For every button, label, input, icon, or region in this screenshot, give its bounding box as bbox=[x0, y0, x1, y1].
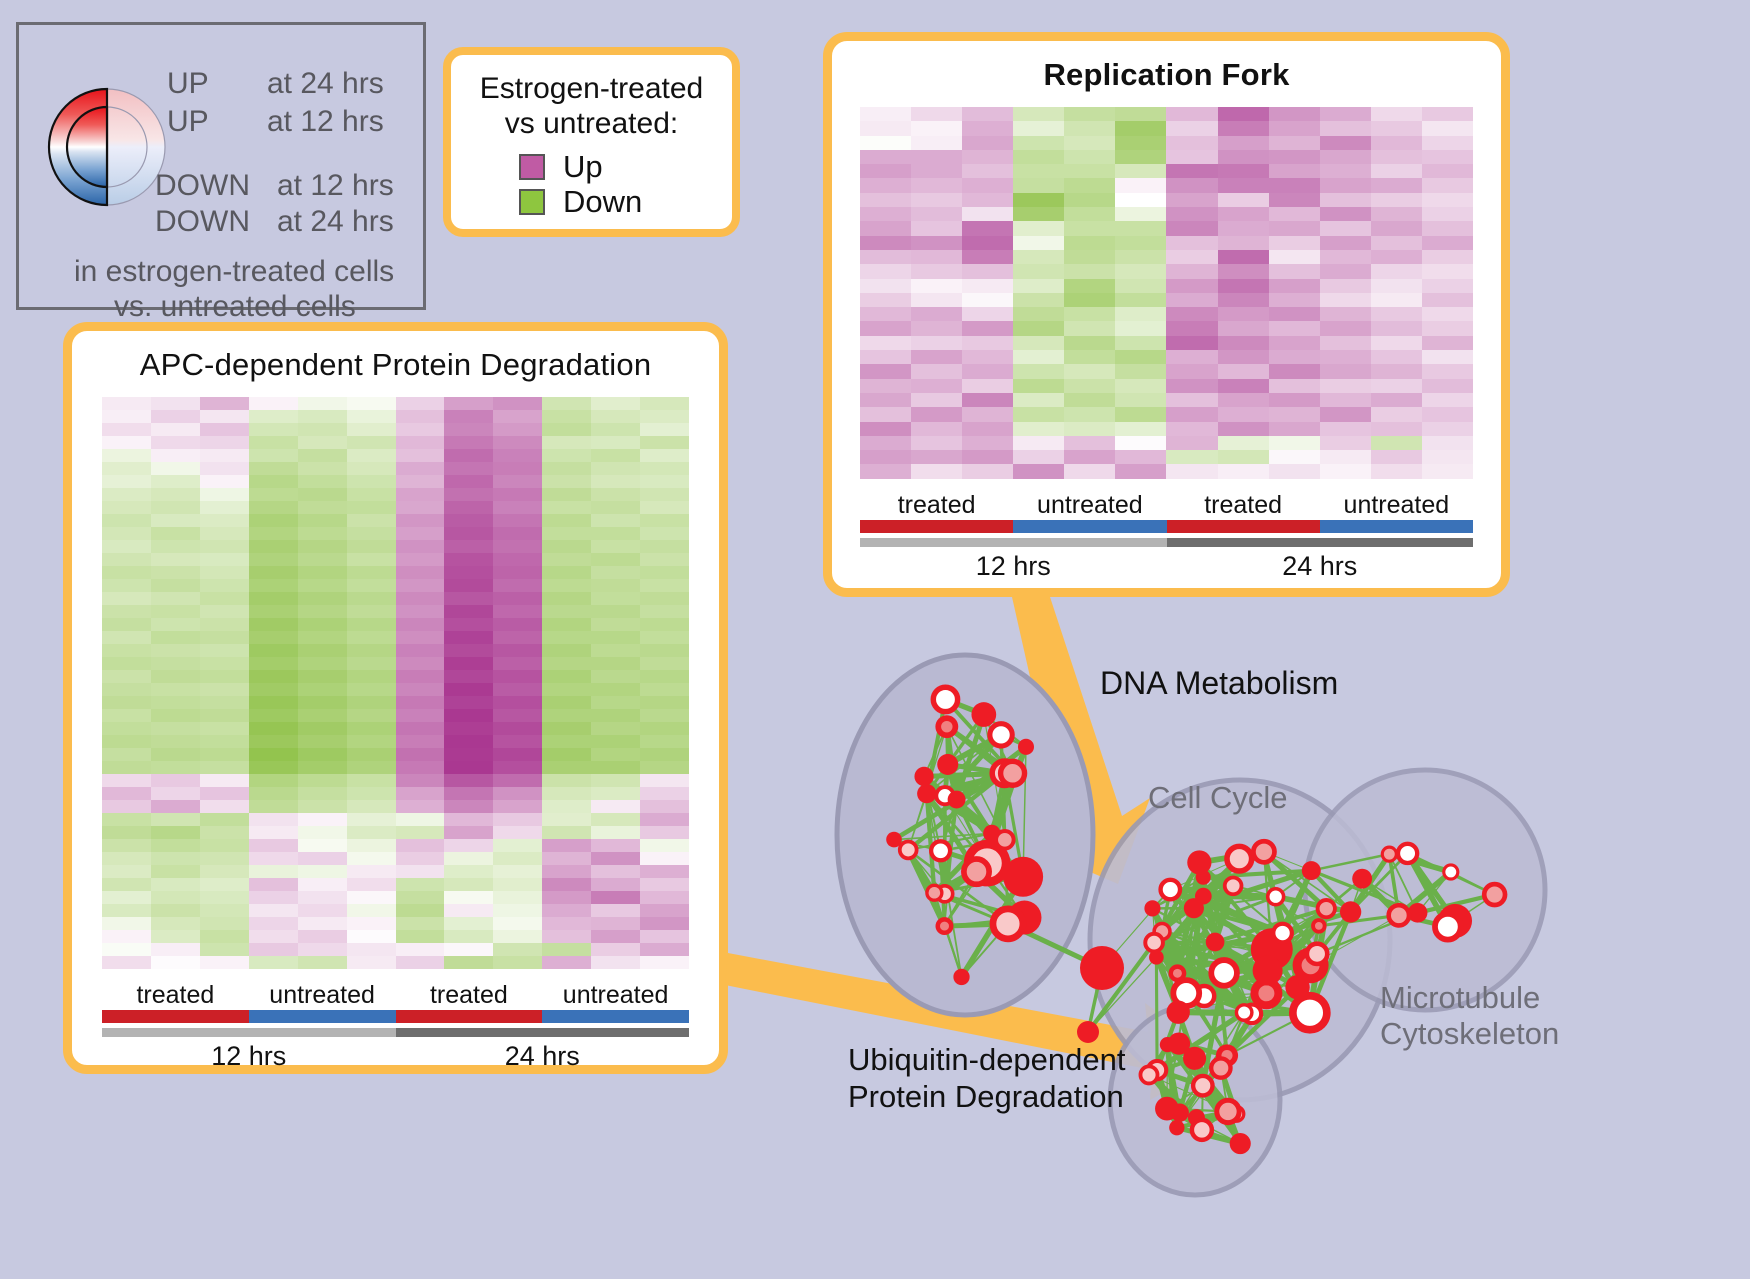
network-node[interactable] bbox=[1444, 865, 1458, 879]
heatmap-cell bbox=[1013, 107, 1064, 121]
heatmap-cell bbox=[591, 904, 640, 917]
heatmap-cell bbox=[347, 592, 396, 605]
network-node[interactable] bbox=[900, 842, 917, 859]
heatmap-cell bbox=[1320, 422, 1371, 436]
heatmap-cell bbox=[591, 449, 640, 462]
heatmap-cell bbox=[151, 670, 200, 683]
heatmap-cell bbox=[102, 722, 151, 735]
heatmap-cell bbox=[298, 800, 347, 813]
heatmap-cell bbox=[200, 787, 249, 800]
heatmap-cell bbox=[1371, 207, 1422, 221]
heatmap-cell bbox=[102, 566, 151, 579]
heatmap-cell bbox=[1371, 422, 1422, 436]
heatmap-cell bbox=[444, 709, 493, 722]
heatmap-cell bbox=[542, 787, 591, 800]
heatmap-cell bbox=[1422, 279, 1473, 293]
heatmap-cell bbox=[1064, 221, 1115, 235]
network-node[interactable] bbox=[1236, 1005, 1251, 1020]
network-node[interactable] bbox=[1435, 914, 1461, 940]
heatmap-cell bbox=[640, 514, 689, 527]
heatmap-cell bbox=[200, 644, 249, 657]
heatmap-cell bbox=[249, 657, 298, 670]
heatmap-cell bbox=[200, 436, 249, 449]
heatmap-cell bbox=[1064, 107, 1115, 121]
heatmap-cell bbox=[347, 826, 396, 839]
heatmap-cell bbox=[102, 592, 151, 605]
heatmap-cell bbox=[1269, 393, 1320, 407]
network-node-core bbox=[941, 721, 952, 732]
heatmap-cell bbox=[542, 956, 591, 969]
heatmap-cell bbox=[911, 136, 962, 150]
network-node[interactable] bbox=[1144, 900, 1160, 916]
heatmap-cell bbox=[102, 748, 151, 761]
heatmap-cell bbox=[249, 943, 298, 956]
heatmap-cell bbox=[444, 852, 493, 865]
heatmap-cell bbox=[298, 553, 347, 566]
heatmap-cell bbox=[962, 264, 1013, 278]
heatmap-cell bbox=[347, 514, 396, 527]
time-segment bbox=[860, 538, 1167, 547]
heatmap-cell bbox=[102, 878, 151, 891]
heatmap-cell bbox=[1422, 236, 1473, 250]
heatmap-cell bbox=[1422, 150, 1473, 164]
time-label: 12 hrs bbox=[102, 1041, 396, 1072]
heatmap-cell bbox=[102, 423, 151, 436]
heatmap-cell bbox=[1064, 178, 1115, 192]
network-node[interactable] bbox=[996, 831, 1014, 849]
heatmap-cell bbox=[1371, 393, 1422, 407]
heatmap-cell bbox=[444, 735, 493, 748]
heatmap-cell bbox=[493, 462, 542, 475]
heatmap-cell bbox=[151, 540, 200, 553]
network-node[interactable] bbox=[1382, 847, 1396, 861]
heatmap-cell bbox=[1320, 107, 1371, 121]
heatmap-cell bbox=[591, 475, 640, 488]
label-cell-cycle: Cell Cycle bbox=[1148, 780, 1288, 816]
group-labels: treateduntreatedtreateduntreated bbox=[102, 981, 689, 1010]
heatmap-cell bbox=[493, 631, 542, 644]
heatmap-cell bbox=[542, 423, 591, 436]
heatmap-cell bbox=[542, 410, 591, 423]
heatmap-cell bbox=[298, 826, 347, 839]
heatmap-cell bbox=[1269, 136, 1320, 150]
heatmap-cell bbox=[347, 540, 396, 553]
label-ubiquitin-line1: Ubiquitin-dependent bbox=[848, 1042, 1126, 1079]
heatmap-cell bbox=[1115, 464, 1166, 478]
heatmap-cell bbox=[444, 826, 493, 839]
network-node[interactable] bbox=[1183, 1047, 1206, 1070]
network-node[interactable] bbox=[1253, 841, 1274, 862]
heatmap-cell bbox=[860, 136, 911, 150]
heatmap-cell bbox=[640, 618, 689, 631]
heatmap-cell bbox=[298, 670, 347, 683]
label-ubiquitin-line2: Protein Degradation bbox=[848, 1079, 1126, 1116]
heatmap-cell bbox=[962, 250, 1013, 264]
network-node[interactable] bbox=[1161, 880, 1180, 899]
heatmap-cell bbox=[493, 579, 542, 592]
heatmap-cell bbox=[1320, 264, 1371, 278]
network-node[interactable] bbox=[1253, 955, 1283, 985]
heatmap-cell bbox=[493, 514, 542, 527]
heatmap-cell bbox=[298, 436, 347, 449]
network-node[interactable] bbox=[990, 724, 1012, 746]
network-node[interactable] bbox=[1077, 1021, 1099, 1043]
heatmap-cell bbox=[542, 644, 591, 657]
time-segment bbox=[102, 1028, 396, 1037]
heatmap-cell bbox=[396, 709, 445, 722]
treatment-bar bbox=[860, 520, 1473, 533]
heatmap-cell bbox=[1371, 250, 1422, 264]
heatmap-cell bbox=[200, 761, 249, 774]
heatmap-cell bbox=[1064, 464, 1115, 478]
heatmap-cell bbox=[493, 527, 542, 540]
heatmap-cell bbox=[1320, 121, 1371, 135]
heatmap-cell bbox=[200, 865, 249, 878]
heatmap-cell bbox=[860, 336, 911, 350]
heatmap-cell bbox=[493, 852, 542, 865]
heatmap-cell bbox=[298, 852, 347, 865]
heatmap-cell bbox=[102, 735, 151, 748]
heatmap-cell bbox=[444, 488, 493, 501]
heatmap-cell bbox=[151, 878, 200, 891]
heatmap-cell bbox=[1064, 136, 1115, 150]
heatmap-cell bbox=[1320, 279, 1371, 293]
heatmap-cell bbox=[298, 878, 347, 891]
network-node[interactable] bbox=[1187, 850, 1211, 874]
heatmap-cell bbox=[860, 178, 911, 192]
heatmap-cell bbox=[151, 956, 200, 969]
heatmap-cell bbox=[396, 722, 445, 735]
heatmap-cell bbox=[493, 722, 542, 735]
heatmap-cell bbox=[347, 618, 396, 631]
heatmap-cell bbox=[542, 592, 591, 605]
network-node[interactable] bbox=[1195, 888, 1212, 905]
network-edge bbox=[1156, 957, 1157, 1070]
heatmap-cell bbox=[200, 800, 249, 813]
heatmap-cell bbox=[102, 540, 151, 553]
heatmap-cell bbox=[298, 943, 347, 956]
heatmap-cell bbox=[1269, 264, 1320, 278]
heatmap-cell bbox=[151, 644, 200, 657]
heatmap-cell bbox=[1422, 293, 1473, 307]
network-node-core bbox=[1258, 985, 1274, 1001]
heatmap-cell bbox=[1064, 193, 1115, 207]
heatmap-cell bbox=[102, 410, 151, 423]
heatmap-cell bbox=[911, 150, 962, 164]
heatmap-cell bbox=[542, 605, 591, 618]
heatmap-cell bbox=[962, 393, 1013, 407]
heatmap-cell bbox=[591, 488, 640, 501]
heatmap-cell bbox=[200, 826, 249, 839]
heatmap-cell bbox=[151, 605, 200, 618]
group-label: treated bbox=[860, 491, 1013, 520]
heatmap-cell bbox=[542, 722, 591, 735]
heatmap-cell bbox=[298, 865, 347, 878]
network-node[interactable] bbox=[1169, 1120, 1184, 1135]
group-label: untreated bbox=[542, 981, 689, 1010]
heatmap-cell bbox=[962, 364, 1013, 378]
heatmap-cell bbox=[640, 579, 689, 592]
network-node[interactable] bbox=[1001, 761, 1025, 785]
heatmap-cell bbox=[396, 579, 445, 592]
heatmap-cell bbox=[151, 462, 200, 475]
network-node[interactable] bbox=[1193, 1076, 1212, 1095]
heatmap-cell bbox=[249, 475, 298, 488]
network-node[interactable] bbox=[953, 969, 969, 985]
heatmap-cell bbox=[1064, 407, 1115, 421]
heatmap-cell bbox=[591, 800, 640, 813]
heatmap-cell bbox=[1422, 321, 1473, 335]
heatmap-cell bbox=[1064, 436, 1115, 450]
heatmap-cell bbox=[396, 501, 445, 514]
treatment-segment bbox=[102, 1010, 249, 1023]
heatmap-cell bbox=[1218, 236, 1269, 250]
heatmap-cell bbox=[102, 800, 151, 813]
network-node[interactable] bbox=[1285, 975, 1309, 999]
network-node[interactable] bbox=[964, 859, 989, 884]
heatmap-cell bbox=[347, 436, 396, 449]
heatmap-cell bbox=[1371, 336, 1422, 350]
heatmap-cell bbox=[962, 107, 1013, 121]
network-node[interactable] bbox=[927, 885, 942, 900]
treatment-segment bbox=[1320, 520, 1473, 533]
network-node[interactable] bbox=[1307, 944, 1327, 964]
heatmap-cell bbox=[911, 236, 962, 250]
heatmap-cell bbox=[396, 956, 445, 969]
scale-label-up-12: UP bbox=[167, 105, 209, 139]
network-node[interactable] bbox=[948, 791, 966, 809]
network-node[interactable] bbox=[1302, 861, 1321, 880]
heatmap-cell bbox=[1064, 250, 1115, 264]
heatmap-cell bbox=[911, 107, 962, 121]
heatmap-cell bbox=[102, 475, 151, 488]
heatmap-cell bbox=[298, 774, 347, 787]
heatmap-cell bbox=[493, 605, 542, 618]
heatmap-cell bbox=[591, 527, 640, 540]
heatmap-cell bbox=[1422, 436, 1473, 450]
network-node[interactable] bbox=[1192, 1120, 1212, 1140]
network-node[interactable] bbox=[971, 702, 996, 727]
network-node[interactable] bbox=[1155, 1097, 1179, 1121]
network-node[interactable] bbox=[1140, 1066, 1157, 1083]
heatmap-cell bbox=[298, 683, 347, 696]
heatmap-cell bbox=[962, 450, 1013, 464]
network-node[interactable] bbox=[1227, 846, 1252, 871]
heatmap-cell bbox=[396, 839, 445, 852]
network-node[interactable] bbox=[933, 687, 957, 711]
heatmap-cell bbox=[1115, 136, 1166, 150]
heatmap-cell bbox=[200, 462, 249, 475]
heatmap-cell bbox=[640, 540, 689, 553]
treatment-segment bbox=[1167, 520, 1320, 533]
heatmap-cell bbox=[396, 696, 445, 709]
heatmap-cell bbox=[640, 670, 689, 683]
network-node[interactable] bbox=[1211, 1058, 1230, 1077]
scale-time-up-24: at 24 hrs bbox=[267, 67, 384, 101]
heatmap-cell bbox=[298, 410, 347, 423]
heatmap-cell bbox=[640, 839, 689, 852]
heatmap-cell bbox=[444, 761, 493, 774]
group-label: untreated bbox=[1013, 491, 1166, 520]
heatmap-cell bbox=[396, 904, 445, 917]
heatmap-cell bbox=[200, 605, 249, 618]
heatmap-cell bbox=[444, 579, 493, 592]
heatmap-cell bbox=[200, 514, 249, 527]
heatmap-cell bbox=[542, 878, 591, 891]
treatment-segment bbox=[542, 1010, 689, 1023]
heatmap-cell bbox=[1269, 107, 1320, 121]
network-node[interactable] bbox=[1225, 877, 1242, 894]
heatmap-cell bbox=[444, 553, 493, 566]
heatmap-cell bbox=[1115, 150, 1166, 164]
heatmap-cell bbox=[249, 566, 298, 579]
heatmap-cell bbox=[1064, 293, 1115, 307]
network-node[interactable] bbox=[1018, 739, 1034, 755]
network-node[interactable] bbox=[1145, 934, 1163, 952]
heatmap-cell bbox=[396, 787, 445, 800]
heatmap-cell bbox=[102, 553, 151, 566]
heatmap-cell bbox=[640, 488, 689, 501]
heatmap-cell bbox=[860, 207, 911, 221]
heatmap-cell bbox=[102, 618, 151, 631]
network-node[interactable] bbox=[1080, 946, 1124, 990]
heatmap-cell bbox=[347, 683, 396, 696]
heatmap-cell bbox=[298, 540, 347, 553]
heatmap-cell bbox=[1371, 464, 1422, 478]
heatmap-cell bbox=[151, 579, 200, 592]
heatmap-cell bbox=[200, 475, 249, 488]
network-node[interactable] bbox=[1389, 905, 1409, 925]
heatmap-cell bbox=[1422, 364, 1473, 378]
heatmap-cell bbox=[911, 436, 962, 450]
heatmap-cell bbox=[444, 917, 493, 930]
network-node[interactable] bbox=[1268, 889, 1284, 905]
scale-time-down-12: at 12 hrs bbox=[277, 169, 394, 203]
heatmap-cell bbox=[249, 852, 298, 865]
heatmap-cell bbox=[1269, 464, 1320, 478]
key-entry-down: Down bbox=[519, 186, 642, 217]
network-node[interactable] bbox=[1230, 1133, 1251, 1154]
heatmap-cell bbox=[1064, 121, 1115, 135]
heatmap-cell bbox=[1115, 178, 1166, 192]
heatmap-cell bbox=[962, 379, 1013, 393]
heatmap-cell bbox=[591, 683, 640, 696]
heatmap-cell bbox=[249, 670, 298, 683]
heatmap-cell bbox=[1115, 336, 1166, 350]
heatmap-cell bbox=[1269, 164, 1320, 178]
heatmap-cell bbox=[860, 407, 911, 421]
network-node[interactable] bbox=[914, 767, 933, 786]
heatmap-cell bbox=[860, 250, 911, 264]
heatmap-cell bbox=[640, 748, 689, 761]
network-node[interactable] bbox=[1167, 1000, 1190, 1023]
heatmap-cell bbox=[542, 904, 591, 917]
network-node[interactable] bbox=[1206, 933, 1225, 952]
heatmap-cell bbox=[1371, 193, 1422, 207]
heatmap-cell bbox=[962, 207, 1013, 221]
network-node[interactable] bbox=[917, 784, 936, 803]
heatmap-cell bbox=[347, 930, 396, 943]
heatmap-cell bbox=[249, 930, 298, 943]
network-node[interactable] bbox=[1211, 960, 1237, 986]
color-scale-legend: UP at 24 hrs UP at 12 hrs DOWN at 12 hrs… bbox=[16, 22, 426, 310]
heatmap-cell bbox=[591, 891, 640, 904]
heatmap-cell bbox=[102, 449, 151, 462]
heatmap-cell bbox=[1115, 450, 1166, 464]
heatmap-cell bbox=[347, 553, 396, 566]
heatmap-cell bbox=[151, 410, 200, 423]
heatmap-cell bbox=[1013, 436, 1064, 450]
heatmap-cell bbox=[1013, 407, 1064, 421]
heatmap-cell bbox=[591, 423, 640, 436]
group-label: treated bbox=[1167, 491, 1320, 520]
heatmap-cell bbox=[1064, 321, 1115, 335]
heatmap-cell bbox=[1218, 250, 1269, 264]
network-node[interactable] bbox=[1352, 869, 1372, 889]
network-node[interactable] bbox=[1340, 901, 1361, 922]
network-node[interactable] bbox=[937, 754, 958, 775]
heatmap-cell bbox=[542, 657, 591, 670]
heatmap-cell bbox=[200, 657, 249, 670]
network-node[interactable] bbox=[1398, 844, 1417, 863]
heatmap-cell bbox=[151, 748, 200, 761]
heatmap-cell bbox=[444, 878, 493, 891]
network-node[interactable] bbox=[931, 841, 950, 860]
heatmap-cell bbox=[396, 761, 445, 774]
heatmap-cell bbox=[200, 943, 249, 956]
network-node[interactable] bbox=[886, 832, 902, 848]
heatmap-cell bbox=[493, 774, 542, 787]
network-node[interactable] bbox=[1293, 996, 1327, 1030]
heatmap-cell bbox=[1166, 193, 1217, 207]
network-node-core bbox=[1173, 969, 1182, 978]
heatmap-cell bbox=[1115, 321, 1166, 335]
heatmap-cell bbox=[347, 501, 396, 514]
heatmap-cell bbox=[1320, 236, 1371, 250]
network-node-core bbox=[1315, 922, 1323, 930]
heatmap-cell bbox=[249, 462, 298, 475]
heatmap-cell bbox=[151, 774, 200, 787]
heatmap-cell bbox=[1269, 321, 1320, 335]
heatmap-cell bbox=[298, 423, 347, 436]
network-node[interactable] bbox=[1273, 924, 1292, 943]
heatmap-cell bbox=[640, 904, 689, 917]
heatmap-cell bbox=[493, 865, 542, 878]
heatmap-cell bbox=[200, 423, 249, 436]
heatmap-cell bbox=[962, 221, 1013, 235]
network-node[interactable] bbox=[1217, 1100, 1239, 1122]
heatmap-cell bbox=[102, 527, 151, 540]
heatmap-grid bbox=[860, 107, 1473, 479]
heatmap-cell bbox=[444, 618, 493, 631]
heatmap-cell bbox=[1320, 321, 1371, 335]
heatmap-cell bbox=[1218, 436, 1269, 450]
heatmap-cell bbox=[1422, 221, 1473, 235]
heatmap-cell bbox=[396, 865, 445, 878]
heatmap-cell bbox=[542, 917, 591, 930]
group-label: untreated bbox=[249, 981, 396, 1010]
network-node[interactable] bbox=[993, 909, 1023, 939]
heatmap-cell bbox=[1269, 178, 1320, 192]
heatmap-cell bbox=[151, 826, 200, 839]
heatmap-cell bbox=[347, 943, 396, 956]
heatmap-cell bbox=[493, 839, 542, 852]
heatmap-cell bbox=[860, 364, 911, 378]
heatmap-cell bbox=[1422, 350, 1473, 364]
heatmap-cell bbox=[591, 774, 640, 787]
network-node[interactable] bbox=[1484, 884, 1505, 905]
network-node[interactable] bbox=[1318, 900, 1335, 917]
